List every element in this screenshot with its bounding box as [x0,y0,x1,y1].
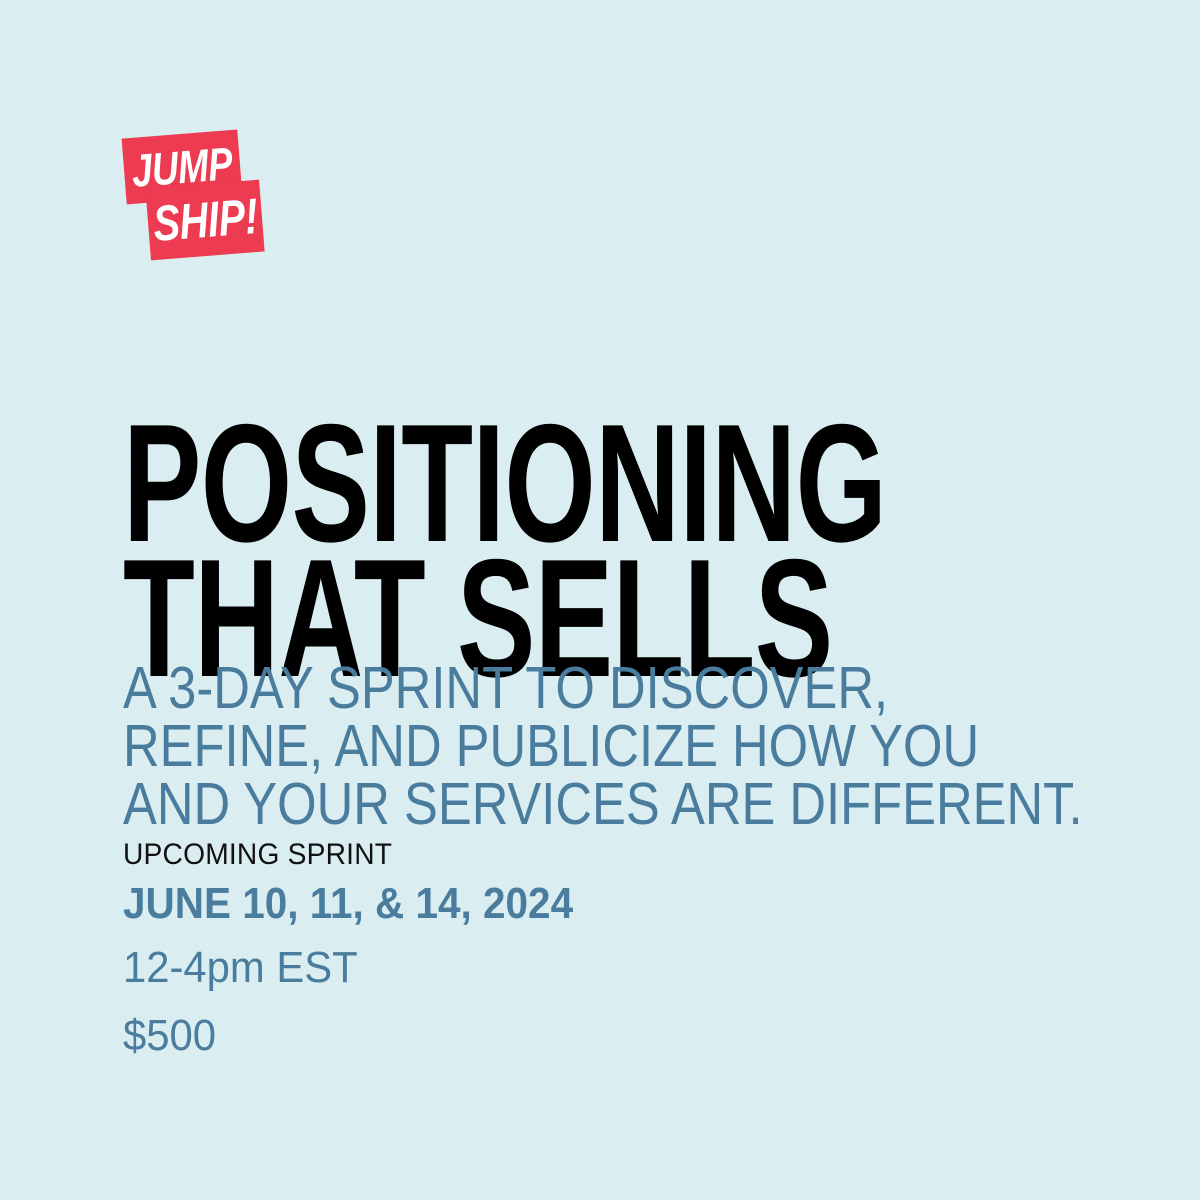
sprint-date: JUNE 10, 11, & 14, 2024 [123,881,573,927]
subtitle-line-3: AND YOUR SERVICES ARE DIFFERENT. [123,775,1083,833]
sprint-details: UPCOMING SPRINT JUNE 10, 11, & 14, 2024 … [123,838,612,1059]
page-title: POSITIONING THAT SELLS [123,416,1200,686]
promo-poster: JUMP SHIP! POSITIONING THAT SELLS A 3-DA… [0,0,1200,1200]
subtitle-line-2: REFINE, AND PUBLICIZE HOW YOU [123,717,1083,775]
subtitle-line-1: A 3-DAY SPRINT TO DISCOVER, [123,659,1083,717]
sprint-price: $500 [123,1013,588,1059]
page-subtitle: A 3-DAY SPRINT TO DISCOVER, REFINE, AND … [123,659,1200,833]
jump-ship-logo[interactable]: JUMP SHIP! [118,128,278,268]
logo-word-ship: SHIP! [151,191,259,249]
logo-block-ship: SHIP! [145,180,264,261]
sprint-time: 12-4pm EST [123,945,588,991]
upcoming-sprint-label: UPCOMING SPRINT [123,838,583,872]
